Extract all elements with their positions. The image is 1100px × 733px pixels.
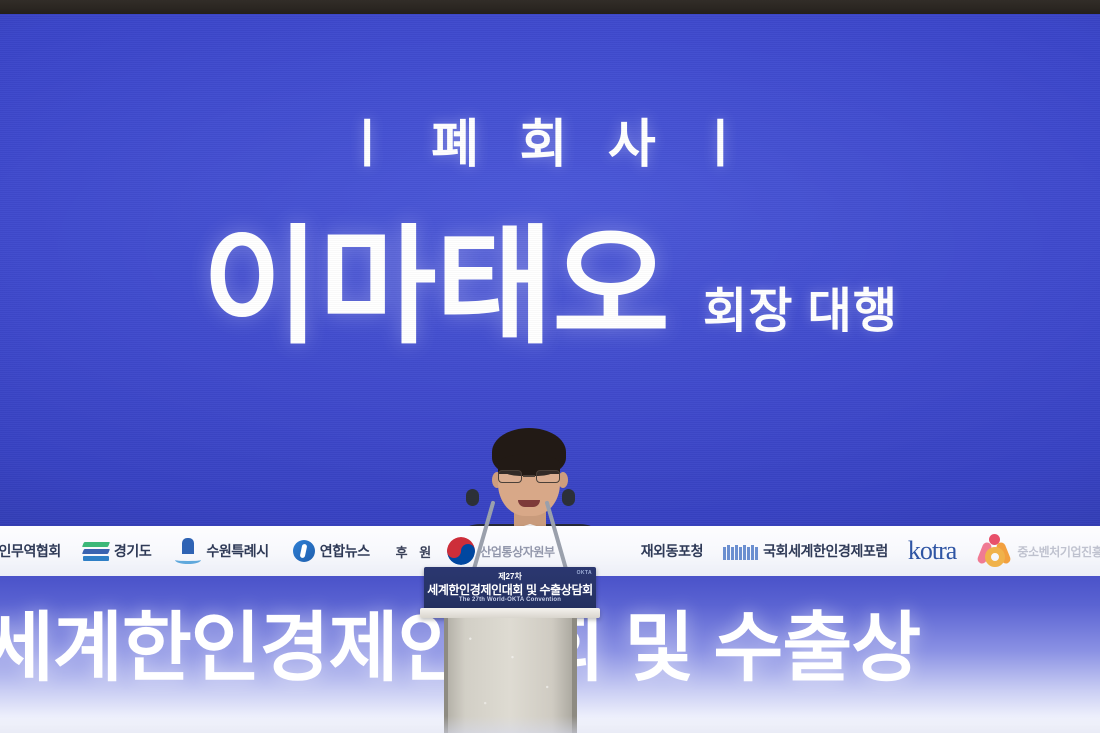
speaker-name-row: 이마태오 회장 대행 [0,224,1100,352]
microphone-head-left [466,489,479,506]
yonhap-mark-icon [293,540,315,562]
sponsor-label-kotra: kotra [908,536,956,566]
sponsor-label-gyeonggi-do: 경기도 [114,541,151,561]
sponsor-logo-korea-trade-association: 한인무역협회 [0,541,61,561]
sponsor-label-suwon-city: 수원특례시 [206,541,268,561]
sponsor-logo-overseas-koreans-agency: 재외동포청 [641,541,703,561]
okta-logo-icon: OKTA [577,570,592,576]
microphone-head-right [562,489,575,506]
screen-section-title: ㅣ 폐 회 사 ㅣ [0,102,1100,177]
podium-sign: 제27차 세계한인경제인대회 및 수출상담회 The 27th World-OK… [424,567,596,611]
podium-top-surface [420,608,600,618]
sponsor-label-yonhap-news: 연합뉴스 [320,541,370,561]
speaker-hair [492,428,566,476]
sponsor-logo-ministry-industry: 산업통상자원부 [447,537,554,565]
speaker-mouth [518,500,540,507]
speaker-role: 회장 대행 [703,288,898,352]
speaker-glasses [497,470,561,483]
taegeuk-icon [447,537,475,565]
sponsor-logo-yonhap-news: 연합뉴스 [293,540,370,562]
capitol-building-icon [723,542,758,560]
ceiling-strip [0,0,1100,14]
support-label: 후 원 [396,542,436,561]
people-mark-icon [978,534,1012,568]
speaker-name: 이마태오 [202,224,669,352]
sponsor-logo-suwon-city: 수원특례시 [175,536,268,566]
stage-floor [0,716,1100,733]
suwon-tower-icon [175,536,201,566]
sponsor-label-national-assembly-forum: 국회세계한인경제포럼 [763,541,888,561]
sponsor-label-korea-sme-agency: 중소벤처기업진흥공단 [1017,543,1100,560]
sponsor-label-korea-trade-association: 한인무역협회 [0,541,61,561]
sponsor-logo-national-assembly-forum: 국회세계한인경제포럼 [723,541,888,561]
sponsor-logo-korea-sme-agency: 중소벤처기업진흥공단 [978,534,1100,568]
podium-title-korean: 세계한인경제인대회 및 수출상담회 [424,581,596,598]
podium-title-english: The 27th World-OKTA Convention [424,597,596,603]
stage-scene: ㅣ 폐 회 사 ㅣ 이마태오 회장 대행 한인무역협회 경기도 [0,0,1100,733]
gyeonggi-mark-icon [83,542,109,561]
sponsor-logo-kotra: kotra [908,536,956,566]
sponsor-label-ministry-industry: 산업통상자원부 [480,543,554,560]
sponsor-logo-gyeonggi-do: 경기도 [83,541,151,561]
support-label-group: 후 원 [396,542,436,561]
sponsor-label-overseas-koreans-agency: 재외동포청 [641,541,703,561]
